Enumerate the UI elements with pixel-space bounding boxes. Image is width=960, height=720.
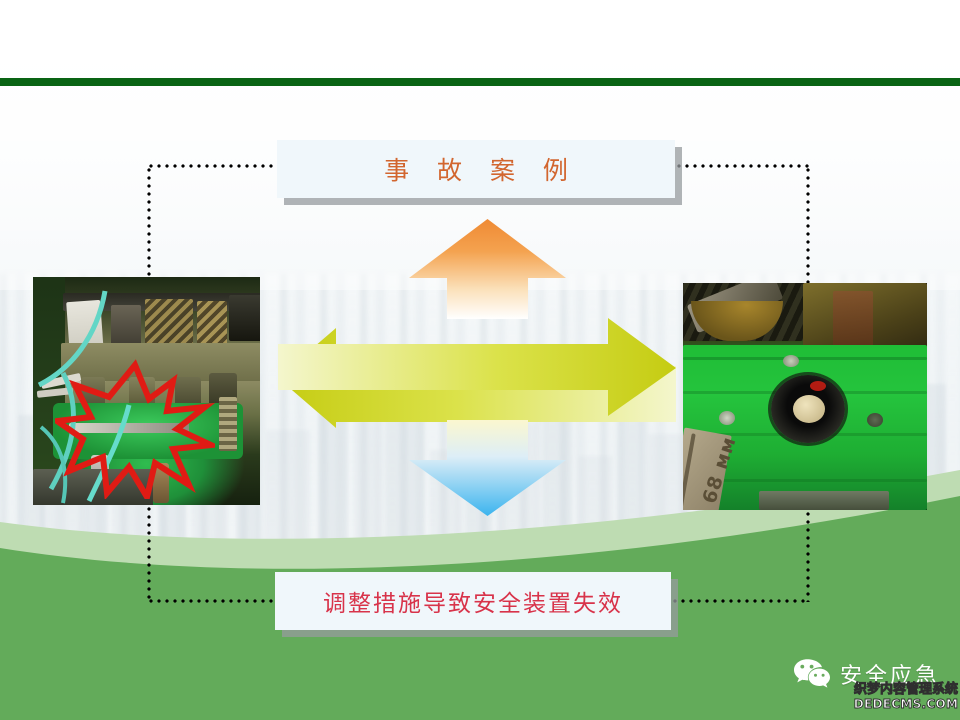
connector-top-right-horizontal [675,164,810,168]
connector-top-left-vertical [147,166,151,278]
page-title: 事 故 案 例 [374,151,578,187]
accident-machine-photo [33,277,260,505]
connector-bottom-left-vertical [147,505,151,603]
conclusion-callout-box: 调整措施导致安全装置失效 [275,572,671,630]
down-arrow [405,418,570,518]
connector-bottom-right-vertical [806,510,810,602]
connector-bottom-right-horizontal [671,599,808,603]
left-right-arrow [278,318,676,428]
connector-bottom-left-horizontal [147,599,279,603]
connector-top-right-vertical [806,166,810,284]
top-divider-rule [0,78,960,86]
connector-top-left-horizontal [147,164,279,168]
brand-name: 安全应急 [840,658,940,690]
red-explosion-star-icon [55,359,215,499]
conclusion-text: 调整措施导致安全装置失效 [323,584,623,618]
green-machine-part-photo: 68 мм [683,283,927,510]
title-callout-box: 事 故 案 例 [277,140,675,198]
green-part-details: 68 мм [683,283,927,510]
wechat-icon [793,658,831,690]
brand-block: 安全应急 [793,650,953,698]
up-arrow [405,215,570,320]
slide-canvas: 68 мм [0,0,960,720]
